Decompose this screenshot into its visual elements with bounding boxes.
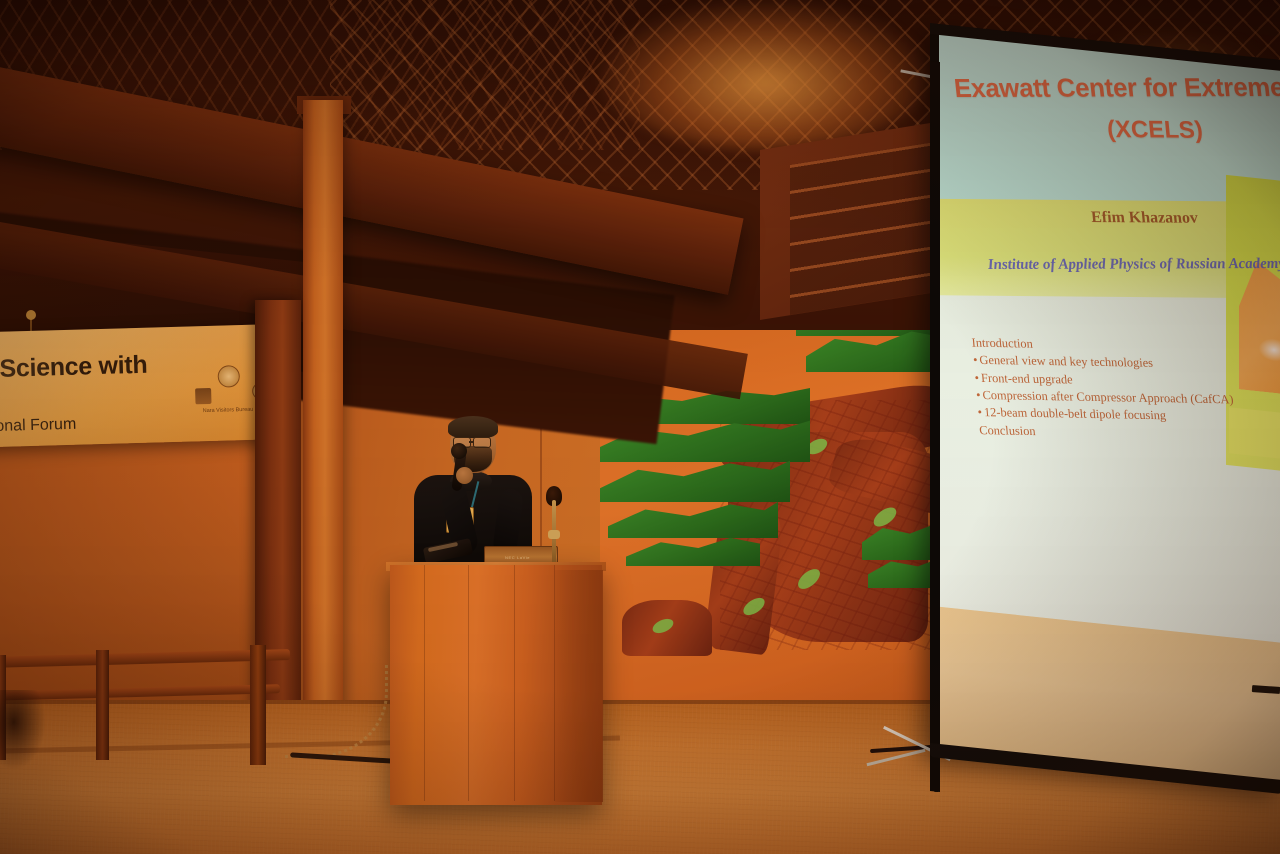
lectern-side-panel <box>555 570 603 802</box>
center-post <box>303 100 343 720</box>
slide-affiliation: Institute of Applied Physics of Russian … <box>987 256 1280 274</box>
laptop-brand-mark: NEC LaVie <box>505 555 530 560</box>
slide-side-graphic-bottom <box>1229 407 1280 460</box>
screen-frame-edge <box>930 61 940 792</box>
presentation-scene-photo: Symposium ntum Beam Science with Lasers … <box>0 0 1280 854</box>
slide-outline-list: Introduction General view and key techno… <box>971 335 1237 444</box>
banner-subtitle: Kasugano International Forum <box>0 411 281 439</box>
slide-title-line-2: (XCELS) <box>1106 116 1204 145</box>
eyeglasses-bridge <box>469 441 473 443</box>
presenter-hair <box>448 416 498 438</box>
projection-screen: Exawatt Center for Extreme Light (XCELS)… <box>930 62 1280 802</box>
railing-post <box>96 650 109 760</box>
gooseneck-microphone-joint <box>548 530 560 539</box>
slide-author: Efim Khazanov <box>1090 209 1198 228</box>
potted-plant <box>0 690 46 770</box>
railing-post <box>250 645 266 765</box>
presentation-slide: Exawatt Center for Extreme Light (XCELS)… <box>939 32 1280 643</box>
slide-title-line-1: Exawatt Center for Extreme Light <box>952 71 1280 104</box>
kanji-mark-icon <box>195 388 211 404</box>
eyeglasses-icon <box>473 437 491 448</box>
screen-surface: Exawatt Center for Extreme Light (XCELS)… <box>939 32 1280 786</box>
ceiling-light-glow <box>600 0 930 150</box>
symposium-banner: Symposium ntum Beam Science with Lasers … <box>0 324 282 451</box>
banner-hanger-knob <box>26 310 36 320</box>
presenter-hand <box>456 467 473 484</box>
microphone-head-icon <box>451 443 467 459</box>
